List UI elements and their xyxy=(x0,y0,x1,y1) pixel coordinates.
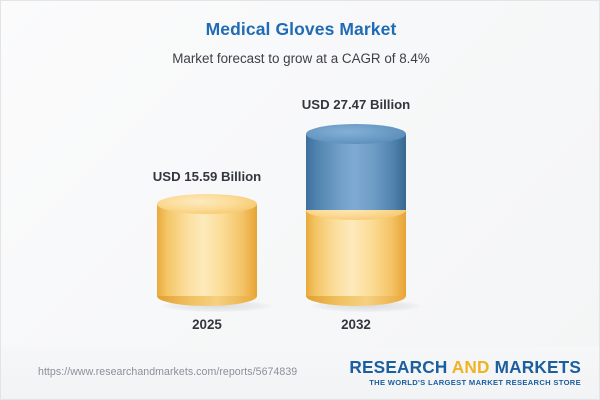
chart-plot-area: USD 15.59 Billion 2025 USD 27.47 Billion xyxy=(1,1,600,346)
logo-tagline: THE WORLD'S LARGEST MARKET RESEARCH STOR… xyxy=(349,378,581,387)
report-url[interactable]: https://www.researchandmarkets.com/repor… xyxy=(38,366,297,378)
logo-word-markets: MARKETS xyxy=(495,357,581,377)
chart-card: Medical Gloves Market Market forecast to… xyxy=(0,0,600,400)
category-label-2032: 2032 xyxy=(286,317,426,332)
segment-body xyxy=(306,134,406,210)
segment-body xyxy=(306,210,406,296)
bar-cylinder-2032[interactable] xyxy=(306,124,406,306)
logo-wordmark: RESEARCH AND MARKETS xyxy=(349,358,581,376)
bar-value-label-2025: USD 15.59 Billion xyxy=(137,169,277,184)
segment-top-ellipse xyxy=(306,124,406,144)
category-label-2025: 2025 xyxy=(137,317,277,332)
bar-value-label-2032: USD 27.47 Billion xyxy=(286,97,426,112)
chart-footer: https://www.researchandmarkets.com/repor… xyxy=(1,347,599,399)
brand-logo[interactable]: RESEARCH AND MARKETS THE WORLD'S LARGEST… xyxy=(349,358,581,387)
logo-word-research: RESEARCH xyxy=(349,357,447,377)
bar-cylinder-2025[interactable] xyxy=(157,194,257,306)
segment-top-ellipse xyxy=(157,194,257,214)
logo-word-and: AND xyxy=(452,357,490,377)
segment-body xyxy=(157,204,257,296)
